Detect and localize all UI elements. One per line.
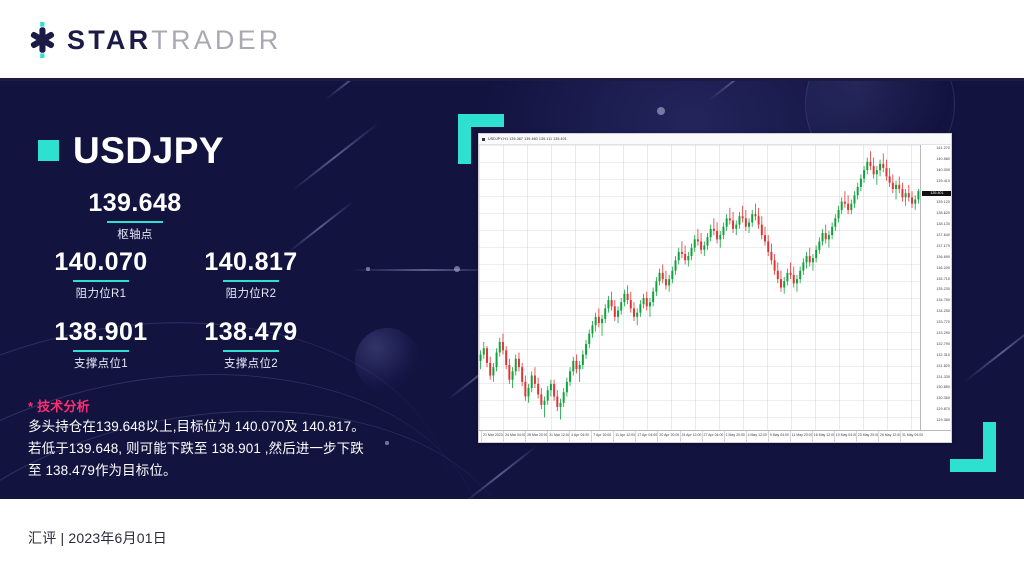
price-tick-label: 133.290 — [936, 332, 950, 336]
resistance-row: 140.070 阻力位R1 140.817 阻力位R2 — [26, 249, 326, 301]
time-tick-label: 23 May 20:00 — [858, 434, 879, 438]
time-tick-label: 27 Apr 04:00 — [704, 434, 724, 438]
pivot-block: 139.648 枢轴点 — [0, 190, 270, 242]
brand-wordmark: STARTRADER — [67, 27, 282, 54]
time-tick-label: 24 Mar 04:00 — [505, 434, 526, 438]
time-tick-separator — [856, 431, 857, 443]
price-tick-label: 129.870 — [936, 408, 950, 412]
time-tick-label: 9 May 04:00 — [770, 434, 789, 438]
time-tick-separator — [635, 431, 636, 443]
brand-logo[interactable]: STARTRADER — [26, 22, 282, 58]
time-tick-label: 4 May 12:00 — [748, 434, 767, 438]
chart-symbol-dot-icon — [482, 138, 485, 141]
bg-streak-6 — [708, 81, 772, 101]
chart-title-text: USDJPY,H1 139.387 139.460 139.111 139.40… — [488, 137, 567, 141]
time-tick-separator — [503, 431, 504, 443]
technical-analysis-body: 多头持仓在139.648以上,目标位为 140.070及 140.817。 若低… — [28, 416, 406, 482]
price-tick-label: 136.690 — [936, 256, 950, 260]
left-info-column: USDJPY 139.648 枢轴点 140.070 阻力位R1 140.817… — [0, 81, 430, 499]
time-tick-separator — [790, 431, 791, 443]
time-tick-label: 16 May 12:00 — [814, 434, 835, 438]
analysis-line-1: 多头持仓在139.648以上,目标位为 140.070及 140.817。 — [28, 416, 406, 438]
support1-block: 138.901 支撑点位1 — [26, 319, 176, 371]
time-tick-separator — [834, 431, 835, 443]
candlestick-plot-area[interactable] — [479, 145, 920, 430]
bg-streak-5 — [462, 445, 538, 499]
bg-streak-7 — [965, 322, 1024, 382]
time-tick-separator — [547, 431, 548, 443]
brand-word-trader: TRADER — [151, 25, 281, 55]
time-tick-separator — [569, 431, 570, 443]
time-tick-separator — [812, 431, 813, 443]
time-tick-label: 28 Mar 20:00 — [527, 434, 548, 438]
time-tick-label: 17 Apr 04:00 — [637, 434, 657, 438]
price-tick-label: 131.820 — [936, 365, 950, 369]
price-tick-label: 138.620 — [936, 212, 950, 216]
price-tick-label: 130.360 — [936, 397, 950, 401]
time-tick-label: 7 Apr 20:00 — [593, 434, 611, 438]
pivot-label: 枢轴点 — [0, 226, 270, 242]
instrument-heading: USDJPY — [38, 132, 224, 169]
time-tick-label: 11 May 20:00 — [792, 434, 813, 438]
time-tick-label: 20 Apr 20:00 — [659, 434, 679, 438]
time-tick-label: 19 May 04:00 — [836, 434, 857, 438]
star-asterisk-icon — [26, 22, 60, 58]
time-tick-label: 4 Apr 04:00 — [571, 434, 589, 438]
bg-dot-4 — [657, 107, 665, 115]
time-tick-separator — [525, 431, 526, 443]
resistance1-label: 阻力位R1 — [26, 285, 176, 301]
price-tick-label: 131.330 — [936, 376, 950, 380]
price-tick-label: 130.850 — [936, 386, 950, 390]
time-tick-label: 31 May 04:00 — [902, 434, 923, 438]
resistance2-value: 140.817 — [176, 249, 326, 277]
time-tick-label: 31 Mar 12:00 — [549, 434, 570, 438]
time-tick-separator — [591, 431, 592, 443]
resistance2-block: 140.817 阻力位R2 — [176, 249, 326, 301]
technical-analysis-heading: * 技术分析 — [28, 396, 90, 415]
price-tick-label: 137.640 — [936, 234, 950, 238]
price-axis[interactable]: 141.270140.580140.000139.410139.401139.1… — [920, 145, 951, 430]
support1-underline — [73, 350, 129, 352]
price-tick-label: 136.200 — [936, 267, 950, 271]
time-tick-separator — [724, 431, 725, 443]
price-tick-label: 135.710 — [936, 278, 950, 282]
poster-root: STARTRADER — [0, 0, 1024, 576]
price-tick-label: 140.580 — [936, 158, 950, 162]
support2-label: 支撑点位2 — [176, 355, 326, 371]
time-tick-label: 21 Mar 2023 — [483, 434, 503, 438]
analysis-line-3: 至 138.479作为目标位。 — [28, 460, 406, 482]
price-tick-label: 137.170 — [936, 245, 950, 249]
footer-bar: 汇评 | 2023年6月01日 — [0, 499, 1024, 576]
time-tick-separator — [481, 431, 482, 443]
price-tick-label: 138.130 — [936, 223, 950, 227]
price-chart-window[interactable]: USDJPY,H1 139.387 139.460 139.111 139.40… — [478, 133, 952, 443]
price-tick-label: 134.750 — [936, 299, 950, 303]
time-tick-separator — [680, 431, 681, 443]
time-tick-separator — [613, 431, 614, 443]
price-tick-label: 132.310 — [936, 354, 950, 358]
time-tick-separator — [657, 431, 658, 443]
resistance1-block: 140.070 阻力位R1 — [26, 249, 176, 301]
support-row: 138.901 支撑点位1 138.479 支撑点位2 — [26, 319, 326, 371]
price-tick-label: 139.120 — [936, 201, 950, 205]
time-tick-label: 11 Apr 12:00 — [615, 434, 635, 438]
instrument-symbol: USDJPY — [73, 132, 224, 169]
support2-value: 138.479 — [176, 319, 326, 347]
price-tick-label: 139.410 — [936, 180, 950, 184]
support1-value: 138.901 — [26, 319, 176, 347]
chart-titlebar: USDJPY,H1 139.387 139.460 139.111 139.40… — [479, 134, 951, 145]
footer-caption: 汇评 | 2023年6月01日 — [28, 528, 167, 548]
time-tick-label: 24 Apr 12:00 — [682, 434, 702, 438]
resistance1-value: 140.070 — [26, 249, 176, 277]
price-tick-label: 141.270 — [936, 147, 950, 151]
time-tick-separator — [900, 431, 901, 443]
resistance2-label: 阻力位R2 — [176, 285, 326, 301]
price-tick-label: 129.380 — [936, 419, 950, 423]
price-tick-label: 132.790 — [936, 343, 950, 347]
time-tick-separator — [702, 431, 703, 443]
current-price-tag: 139.401 — [922, 191, 951, 197]
time-tick-separator — [746, 431, 747, 443]
brand-header: STARTRADER — [0, 0, 1024, 80]
bg-dot-2 — [454, 266, 460, 272]
price-tick-label: 135.230 — [936, 288, 950, 292]
pivot-value: 139.648 — [0, 190, 270, 218]
price-tick-label: 133.770 — [936, 321, 950, 325]
pivot-underline — [107, 221, 163, 223]
time-axis[interactable]: 21 Mar 202324 Mar 04:0028 Mar 20:0031 Ma… — [479, 430, 951, 442]
price-tick-label: 134.250 — [936, 310, 950, 314]
time-tick-label: 1 May 20:00 — [726, 434, 745, 438]
support2-underline — [223, 350, 279, 352]
support2-block: 138.479 支撑点位2 — [176, 319, 326, 371]
time-tick-separator — [878, 431, 879, 443]
brand-word-star: STAR — [67, 25, 151, 55]
corner-bracket-bottom-right — [950, 422, 996, 472]
resistance1-underline — [73, 280, 129, 282]
support1-label: 支撑点位1 — [26, 355, 176, 371]
resistance2-underline — [223, 280, 279, 282]
analysis-line-2: 若低于139.648, 则可能下跌至 138.901 ,然后进一步下跌 — [28, 438, 406, 460]
price-tick-label: 140.000 — [936, 169, 950, 173]
time-tick-label: 26 May 12:00 — [880, 434, 901, 438]
time-tick-separator — [768, 431, 769, 443]
chart-body: 141.270140.580140.000139.410139.401139.1… — [479, 145, 951, 430]
instrument-marker-icon — [38, 140, 59, 161]
